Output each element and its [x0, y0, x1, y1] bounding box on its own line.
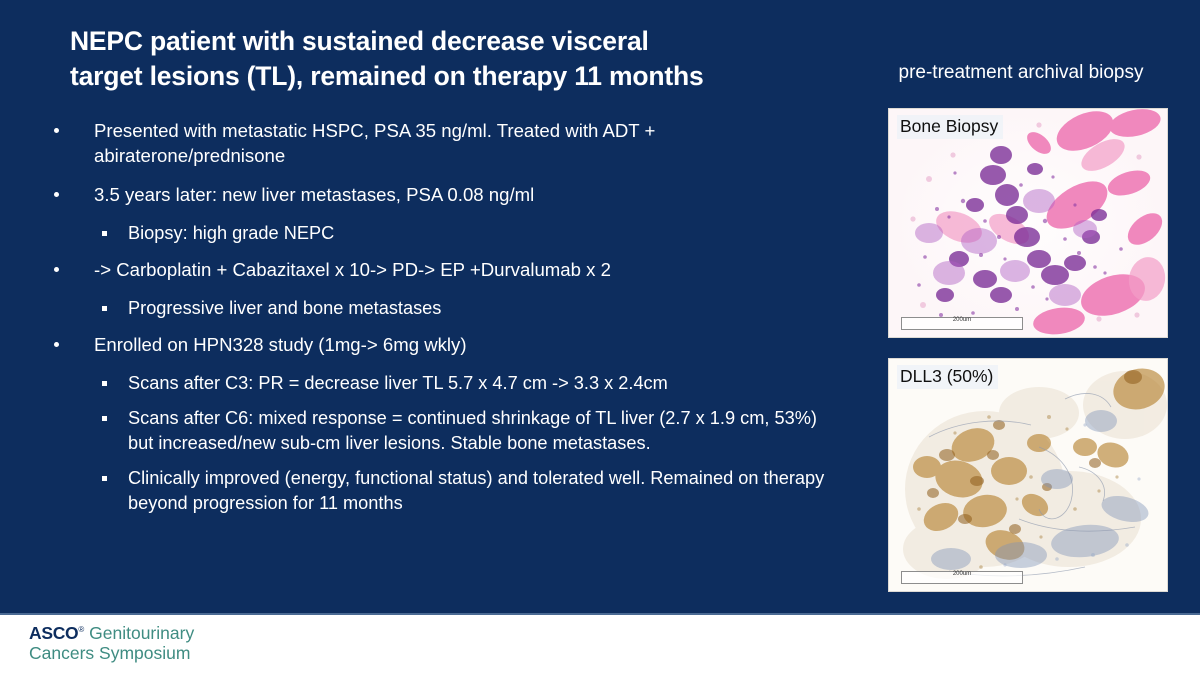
page-title: NEPC patient with sustained decrease vis… [70, 24, 860, 94]
dll3-scale-text: 200um [902, 571, 1022, 577]
title-line-2: target lesions (TL), remained on therapy… [70, 59, 860, 94]
bullet-list: Presented with metastatic HSPC, PSA 35 n… [46, 118, 846, 526]
bullet-item: Scans after C3: PR = decrease liver TL 5… [46, 371, 846, 396]
figures-header: pre-treatment archival biopsy [856, 62, 1186, 85]
asco-gu-line2: Cancers Symposium [29, 644, 194, 664]
slide: NEPC patient with sustained decrease vis… [0, 0, 1200, 675]
footer: ASCO® Genitourinary Cancers Symposium #G… [0, 613, 1200, 675]
bullet-item: Presented with metastatic HSPC, PSA 35 n… [46, 118, 846, 168]
asco-gu-line1: Genitourinary [84, 623, 194, 643]
asco-gu-logo: ASCO® Genitourinary Cancers Symposium [29, 624, 194, 663]
dll3-figure: DLL3 (50%) 200um [888, 358, 1168, 592]
bone-biopsy-label: Bone Biopsy [897, 115, 1003, 139]
bullet-item: Enrolled on HPN328 study (1mg-> 6mg wkly… [46, 332, 846, 357]
title-line-1: NEPC patient with sustained decrease vis… [70, 24, 860, 59]
slide-body: NEPC patient with sustained decrease vis… [0, 0, 1200, 613]
bullet-item: Scans after C6: mixed response = continu… [46, 406, 846, 455]
dll3-label: DLL3 (50%) [897, 365, 998, 389]
asco-wordmark: ASCO [29, 623, 78, 643]
dll3-image [889, 359, 1167, 591]
dll3-scale-bar: 200um [901, 571, 1023, 584]
bullet-item: Progressive liver and bone metastases [46, 296, 846, 321]
bone-biopsy-figure: Bone Biopsy 200um [888, 108, 1168, 338]
bullet-item: Biopsy: high grade NEPC [46, 221, 846, 246]
bullet-item: -> Carboplatin + Cabazitaxel x 10-> PD->… [46, 257, 846, 282]
bullet-item: 3.5 years later: new liver metastases, P… [46, 182, 846, 207]
bone-biopsy-scale-bar: 200um [901, 317, 1023, 330]
bullet-item: Clinically improved (energy, functional … [46, 466, 846, 515]
bone-biopsy-image [889, 109, 1167, 337]
bone-biopsy-scale-text: 200um [902, 317, 1022, 323]
